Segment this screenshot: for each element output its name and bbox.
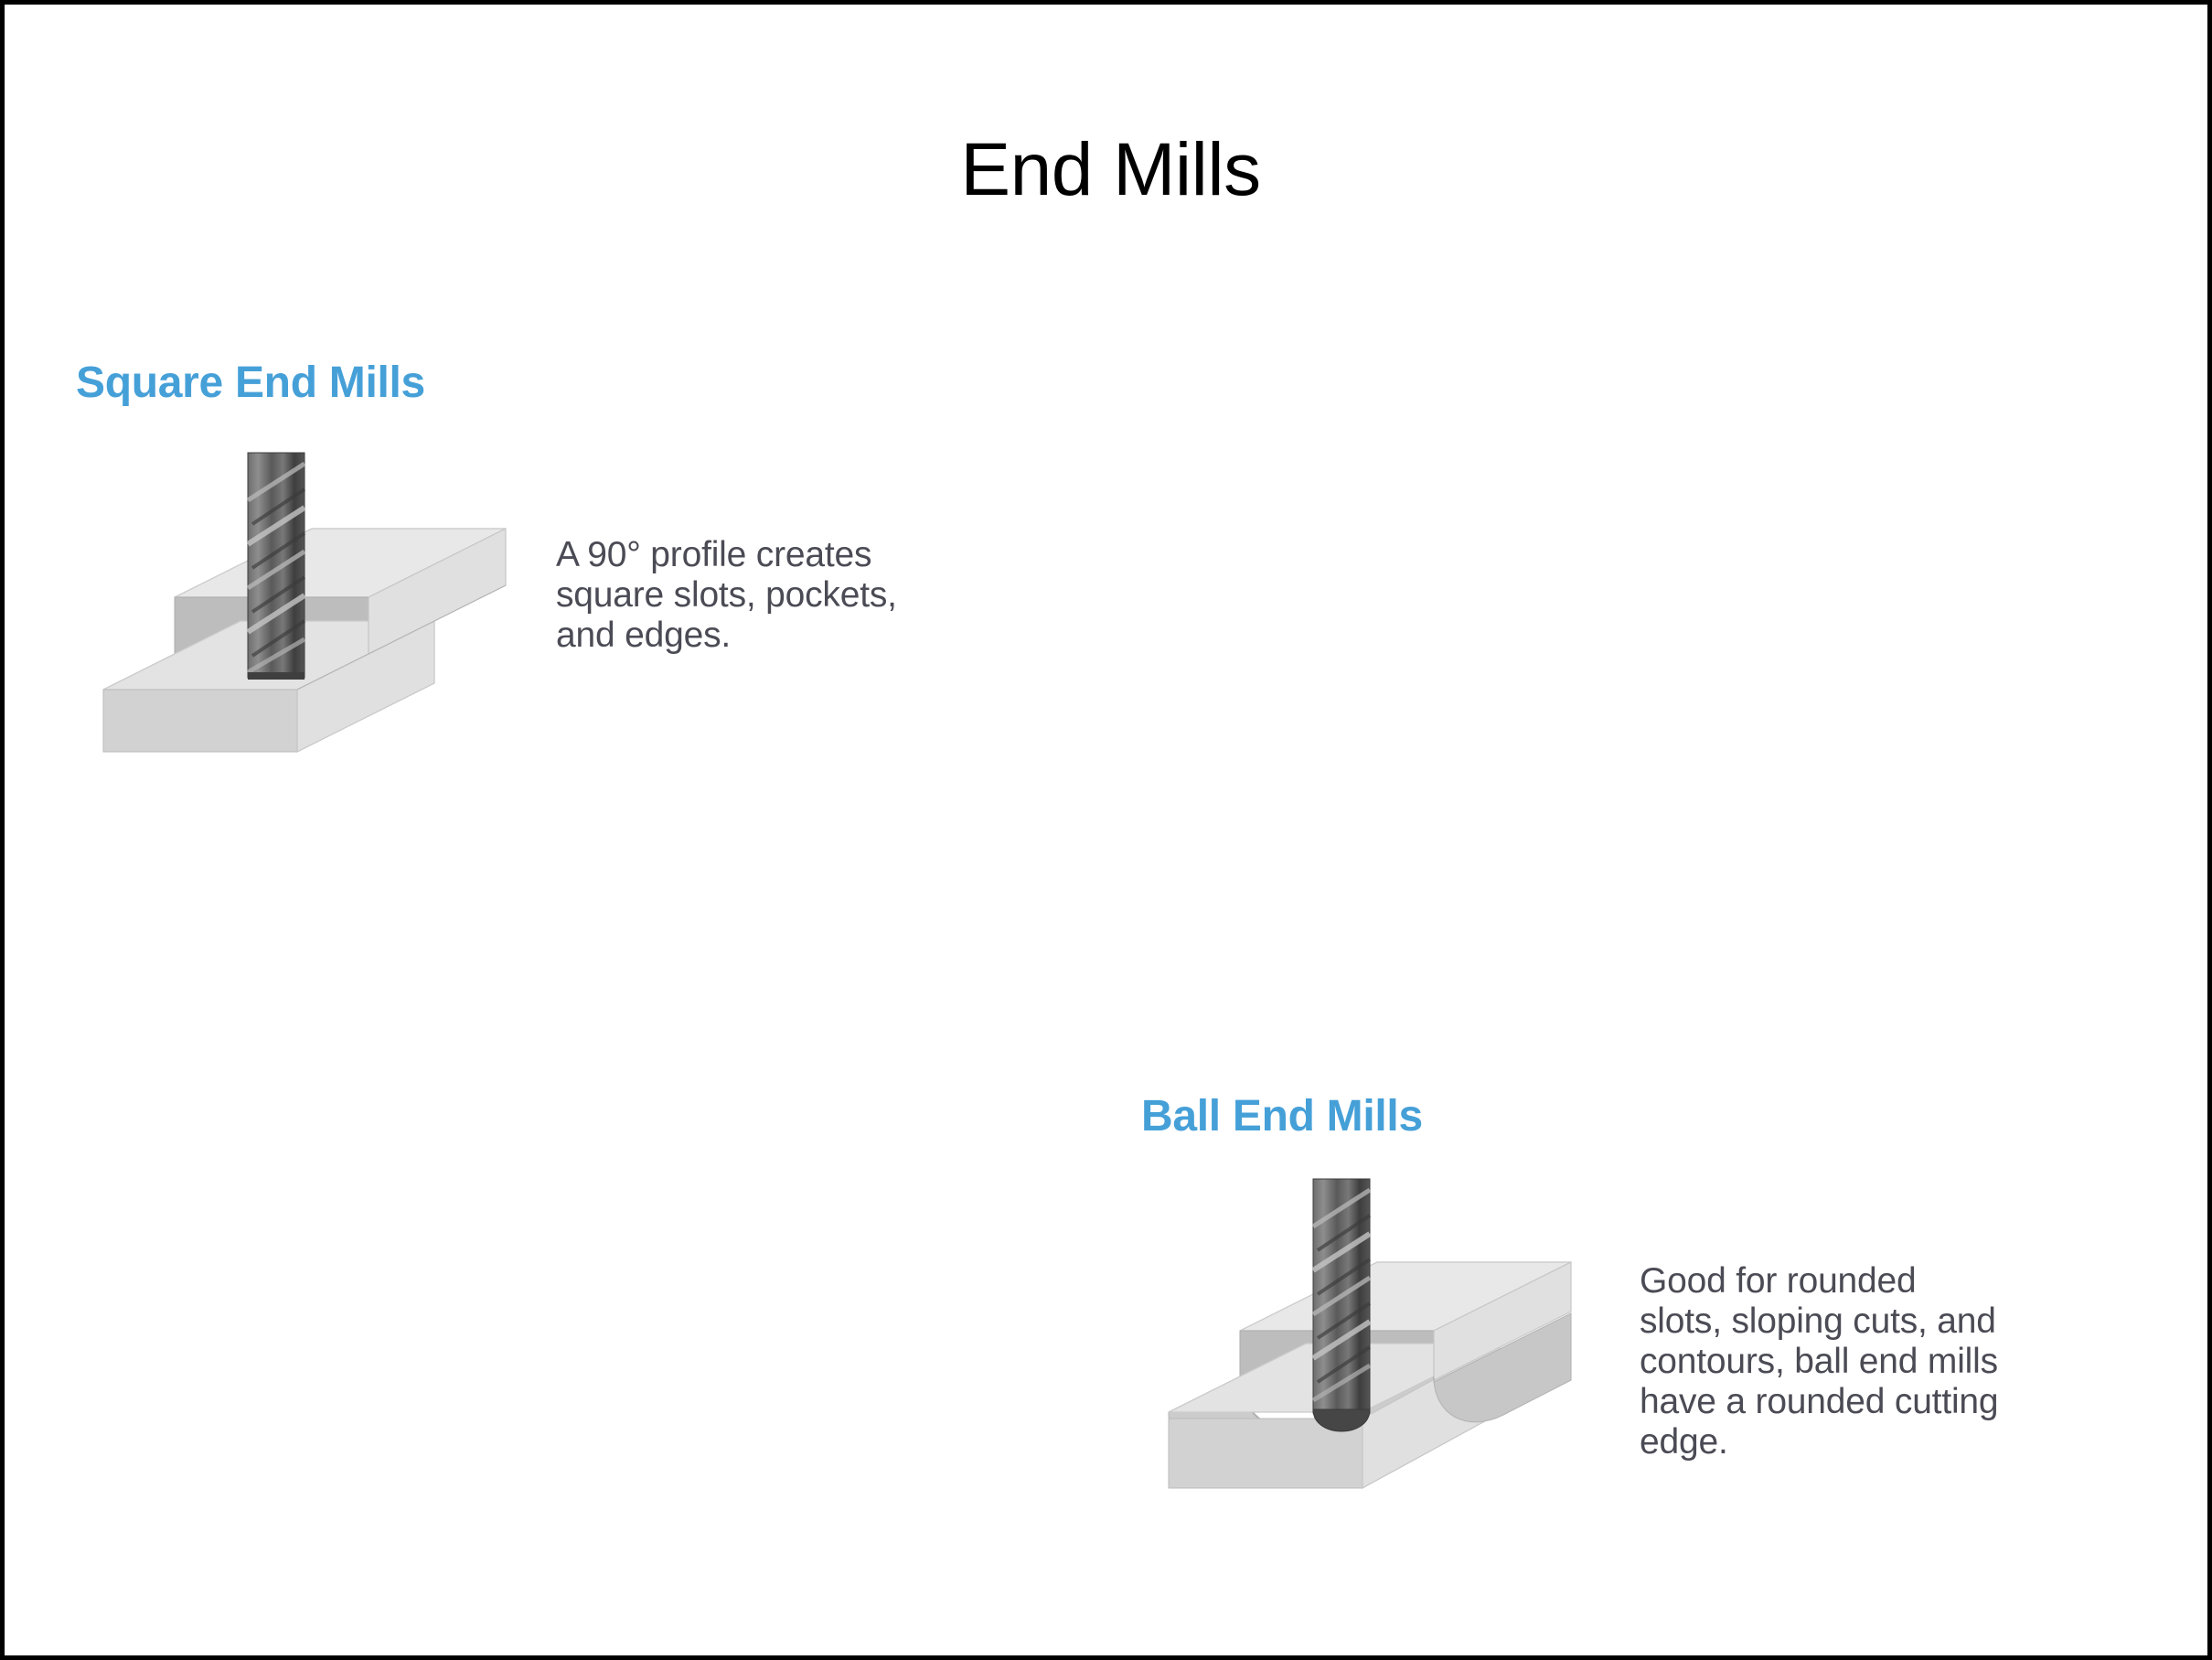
square-end-mill-illustration [76, 436, 533, 802]
slide-page: End Mills Square End Mills [0, 0, 2212, 1660]
section-heading-square-end-mills: Square End Mills [76, 361, 425, 405]
section-ball-end-mills: Ball End Mills [1141, 1095, 1423, 1170]
ball-end-mill-tool [1313, 1179, 1370, 1431]
square-end-mill-tool [248, 453, 305, 680]
section-heading-ball-end-mills: Ball End Mills [1141, 1095, 1423, 1139]
section-square-end-mills: Square End Mills [76, 361, 425, 436]
description-ball-end-mills: Good for rounded slots, sloping cuts, an… [1640, 1261, 2170, 1462]
page-title: End Mills [5, 133, 2212, 208]
ball-end-mill-illustration [1141, 1170, 1598, 1536]
description-square-end-mills: A 90° profile creates square slots, pock… [556, 535, 1031, 656]
